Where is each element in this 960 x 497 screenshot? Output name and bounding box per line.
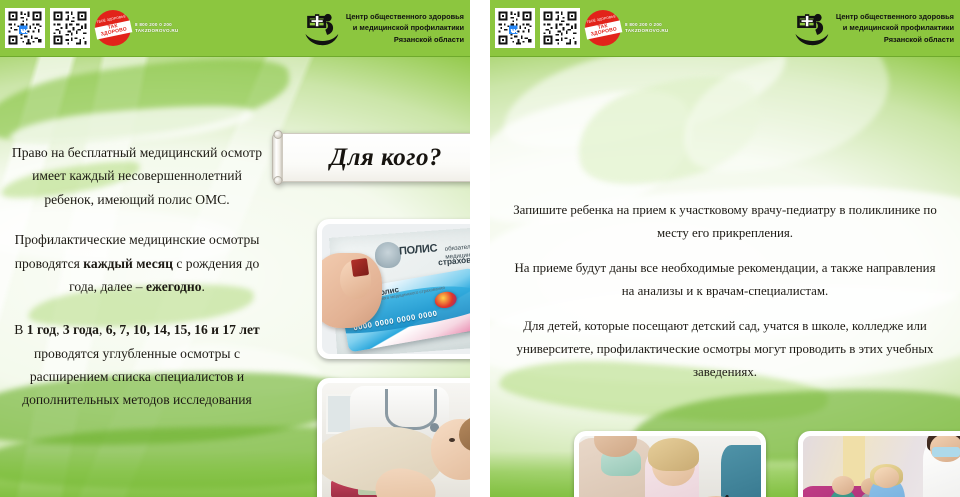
right-panel-copy: Запишите ребенка на прием к участковому … [510, 199, 940, 384]
scroll-roll-icon [272, 133, 282, 182]
qr-code-site-icon[interactable] [540, 8, 580, 48]
state-emblem-icon [375, 242, 401, 268]
photo-frame: ПОЛИС обязательного медицинского страхов… [322, 224, 470, 354]
child-hair [648, 438, 699, 471]
left-panel-copy: Право на бесплатный медицинский осмотр и… [8, 141, 266, 412]
child-head [832, 476, 854, 495]
qr-code-vk-icon[interactable] [495, 8, 535, 48]
takzdorovo-badge-group[interactable]: ТВОЁ ЗДОРОВЬЕ ТАК ЗДОРОВО 8 800 200 0 20… [95, 10, 179, 46]
org-line-2: и медицинской профилактики [346, 22, 464, 33]
left-p3-b: 1 год [27, 322, 56, 337]
left-p3-d: 3 года [63, 322, 99, 337]
left-panel-header: ТВОЁ ЗДОРОВЬЕ ТАК ЗДОРОВО 8 800 200 0 20… [0, 0, 470, 57]
takzdorovo-logo-icon: ТВОЁ ЗДОРОВЬЕ ТАК ЗДОРОВО [585, 10, 621, 46]
left-title-banner: Для кого? [272, 133, 470, 182]
qr-code-site-icon[interactable] [50, 8, 90, 48]
org-line-2: и медицинской профилактики [836, 22, 954, 33]
right-panel-body: Как пройти? Запишите ребенка на прием к … [490, 57, 960, 497]
left-p3-e: , [99, 322, 106, 337]
waiting-room-illustration [803, 436, 960, 497]
org-line-3: Рязанской области [346, 34, 464, 45]
right-paragraph-2: На приеме будут даны все необходимые рек… [510, 257, 940, 303]
left-p1-text: Право на бесплатный медицинский осмотр и… [12, 145, 262, 207]
scroll-sheet: Для кого? [282, 133, 470, 182]
hotline-info: 8 800 200 0 200 TAKZDOROVO.RU [135, 22, 179, 33]
header-right-group: Центр общественного здоровья и медицинск… [302, 8, 464, 48]
left-p2-e: . [202, 279, 205, 294]
photo-frame [579, 436, 761, 497]
left-paragraph-1: Право на бесплатный медицинский осмотр и… [8, 141, 266, 211]
right-panel-header: ТВОЁ ЗДОРОВЬЕ ТАК ЗДОРОВО 8 800 200 0 20… [490, 0, 960, 57]
takzdorovo-badge-group[interactable]: ТВОЁ ЗДОРОВЬЕ ТАК ЗДОРОВО 8 800 200 0 20… [585, 10, 669, 46]
card-emblem-chip [351, 258, 369, 277]
stethoscope-icon [385, 389, 437, 431]
left-p3-f: 6, 7, 10, 14, 15, 16 и 17 лет [106, 322, 260, 337]
doctor-figure [721, 445, 761, 497]
right-paragraph-3: Для детей, которые посещают детский сад,… [510, 315, 940, 384]
left-panel-title: Для кого? [330, 144, 442, 172]
qr-code-vk-icon[interactable] [5, 8, 45, 48]
oms-policy-illustration: ПОЛИС обязательного медицинского страхов… [322, 224, 470, 354]
child-head [874, 467, 899, 488]
left-panel: ТВОЁ ЗДОРОВЬЕ ТАК ЗДОРОВО 8 800 200 0 20… [0, 0, 470, 497]
center-logo-icon [302, 8, 340, 48]
takzdorovo-logo-icon: ТВОЁ ЗДОРОВЬЕ ТАК ЗДОРОВО [95, 10, 131, 46]
org-line-1: Центр общественного здоровья [836, 11, 954, 22]
left-panel-body: Для кого? Право на бесплатный медицински… [0, 57, 470, 497]
hotline-site: TAKZDOROVO.RU [625, 28, 669, 34]
left-p3-c: , [56, 322, 63, 337]
waiting-room-photo-card [798, 431, 960, 497]
header-right-group: Центр общественного здоровья и медицинск… [792, 8, 954, 48]
left-paragraph-3: В 1 год, 3 года, 6, 7, 10, 14, 15, 16 и … [8, 318, 266, 412]
poster-root: ТВОЁ ЗДОРОВЬЕ ТАК ЗДОРОВО 8 800 200 0 20… [0, 0, 960, 497]
desk-consult-photo-card [574, 431, 766, 497]
organization-name: Центр общественного здоровья и медицинск… [346, 11, 464, 44]
photo-frame [322, 383, 470, 497]
badge-main-label: ТАК ЗДОРОВО [95, 21, 133, 40]
face-mask-icon [932, 447, 959, 458]
hotline-site: TAKZDOROVO.RU [135, 28, 179, 34]
baby-on-scale-illustration [322, 383, 470, 497]
badge-main-label: ТАК ЗДОРОВО [585, 21, 623, 40]
org-line-1: Центр общественного здоровья [346, 11, 464, 22]
oms-policy-photo-card: ПОЛИС обязательного медицинского страхов… [317, 219, 470, 359]
left-p3-g: проводятся углубленные осмотры с расшире… [22, 346, 252, 408]
right-panel: ТВОЁ ЗДОРОВЬЕ ТАК ЗДОРОВО 8 800 200 0 20… [490, 0, 960, 497]
left-p2-d: ежегодно [146, 279, 202, 294]
baby-eye [449, 438, 455, 442]
photo-frame [803, 436, 960, 497]
center-logo-icon [792, 8, 830, 48]
header-left-group: ТВОЁ ЗДОРОВЬЕ ТАК ЗДОРОВО 8 800 200 0 20… [495, 8, 669, 48]
left-p3-a: В [14, 322, 26, 337]
left-paragraph-2: Профилактические медицинские осмотры про… [8, 228, 266, 298]
hotline-info: 8 800 200 0 200 TAKZDOROVO.RU [625, 22, 669, 33]
desk-consult-illustration [579, 436, 761, 497]
org-line-3: Рязанской области [836, 34, 954, 45]
right-paragraph-1: Запишите ребенка на прием к участковому … [510, 199, 940, 245]
organization-name: Центр общественного здоровья и медицинск… [836, 11, 954, 44]
header-left-group: ТВОЁ ЗДОРОВЬЕ ТАК ЗДОРОВО 8 800 200 0 20… [5, 8, 179, 48]
baby-scale-photo-card [317, 378, 470, 497]
left-p2-b: каждый месяц [83, 256, 173, 271]
